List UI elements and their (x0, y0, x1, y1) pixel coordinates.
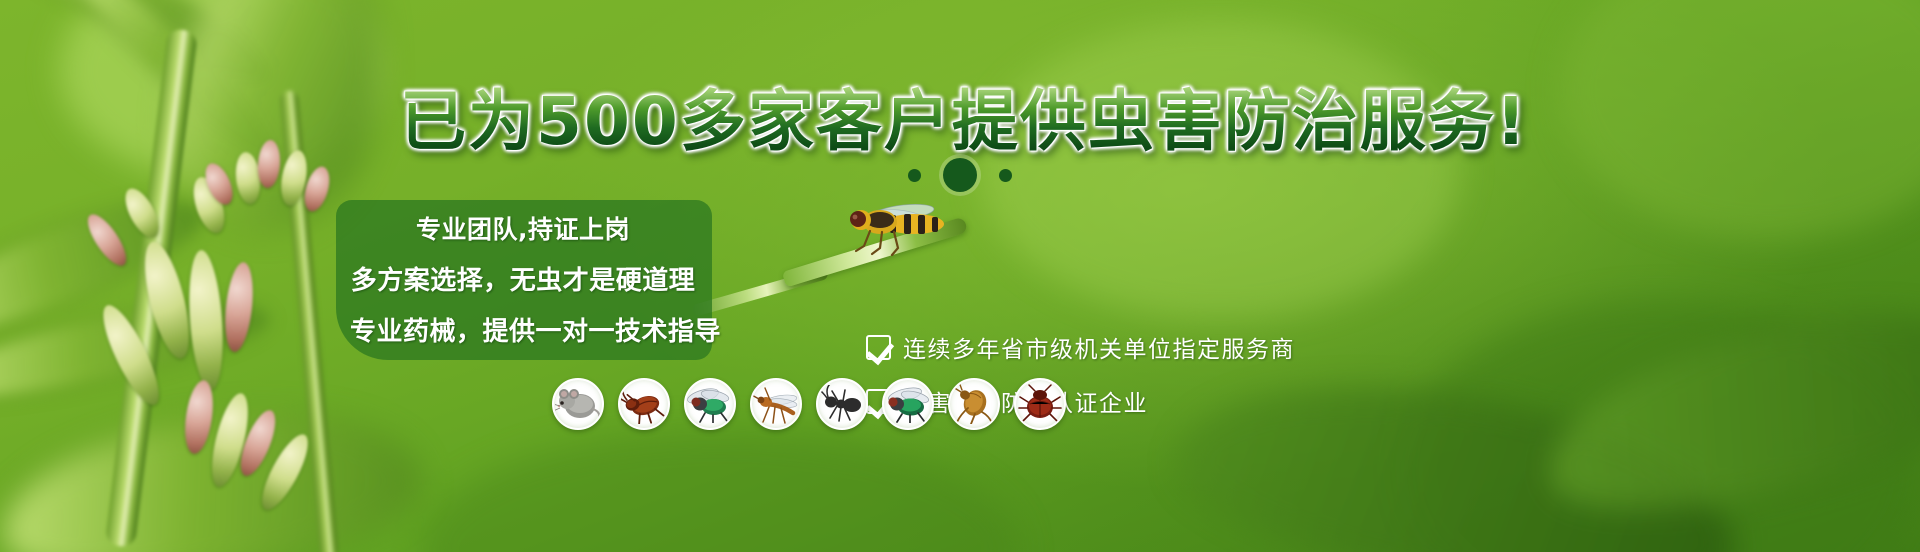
flea-icon (948, 378, 1000, 430)
dot-small-icon (908, 169, 921, 182)
mosquito-icon (750, 378, 802, 430)
page-title: 已为500多家客户提供虫害防治服务! (0, 68, 1920, 164)
mouse-icon (552, 378, 604, 430)
slogan-line-2: 多方案选择，无虫才是硬道理 (350, 260, 696, 297)
pest-icon-row (552, 378, 1066, 430)
checkbox-checked-icon (866, 335, 891, 360)
dot-large-icon (943, 158, 977, 192)
fly-icon (684, 378, 736, 430)
promo-banner: 已为500多家客户提供虫害防治服务! 已为500多家客户提供虫害防治服务! 专业… (0, 0, 1920, 552)
hoverfly-icon (846, 198, 956, 256)
slogan-line-3: 专业药械，提供一对一技术指导 (350, 311, 696, 348)
plant-bud (221, 261, 256, 353)
decorative-dots (0, 158, 1920, 192)
cockroach-icon (618, 378, 670, 430)
checklist-item-label: 连续多年省市级机关单位指定服务商 (903, 330, 1295, 364)
plant-bud (185, 249, 227, 391)
blowfly-icon (882, 378, 934, 430)
slogan-line-1: 专业团队,持证上岗 (350, 210, 696, 246)
dot-small-icon (999, 169, 1012, 182)
ant-icon (816, 378, 868, 430)
slogan-panel: 专业团队,持证上岗 多方案选择，无虫才是硬道理 专业药械，提供一对一技术指导 (336, 200, 712, 360)
checklist-item: 连续多年省市级机关单位指定服务商 (866, 330, 1295, 364)
bokeh-blob (420, 430, 1020, 552)
bedbug-icon (1014, 378, 1066, 430)
